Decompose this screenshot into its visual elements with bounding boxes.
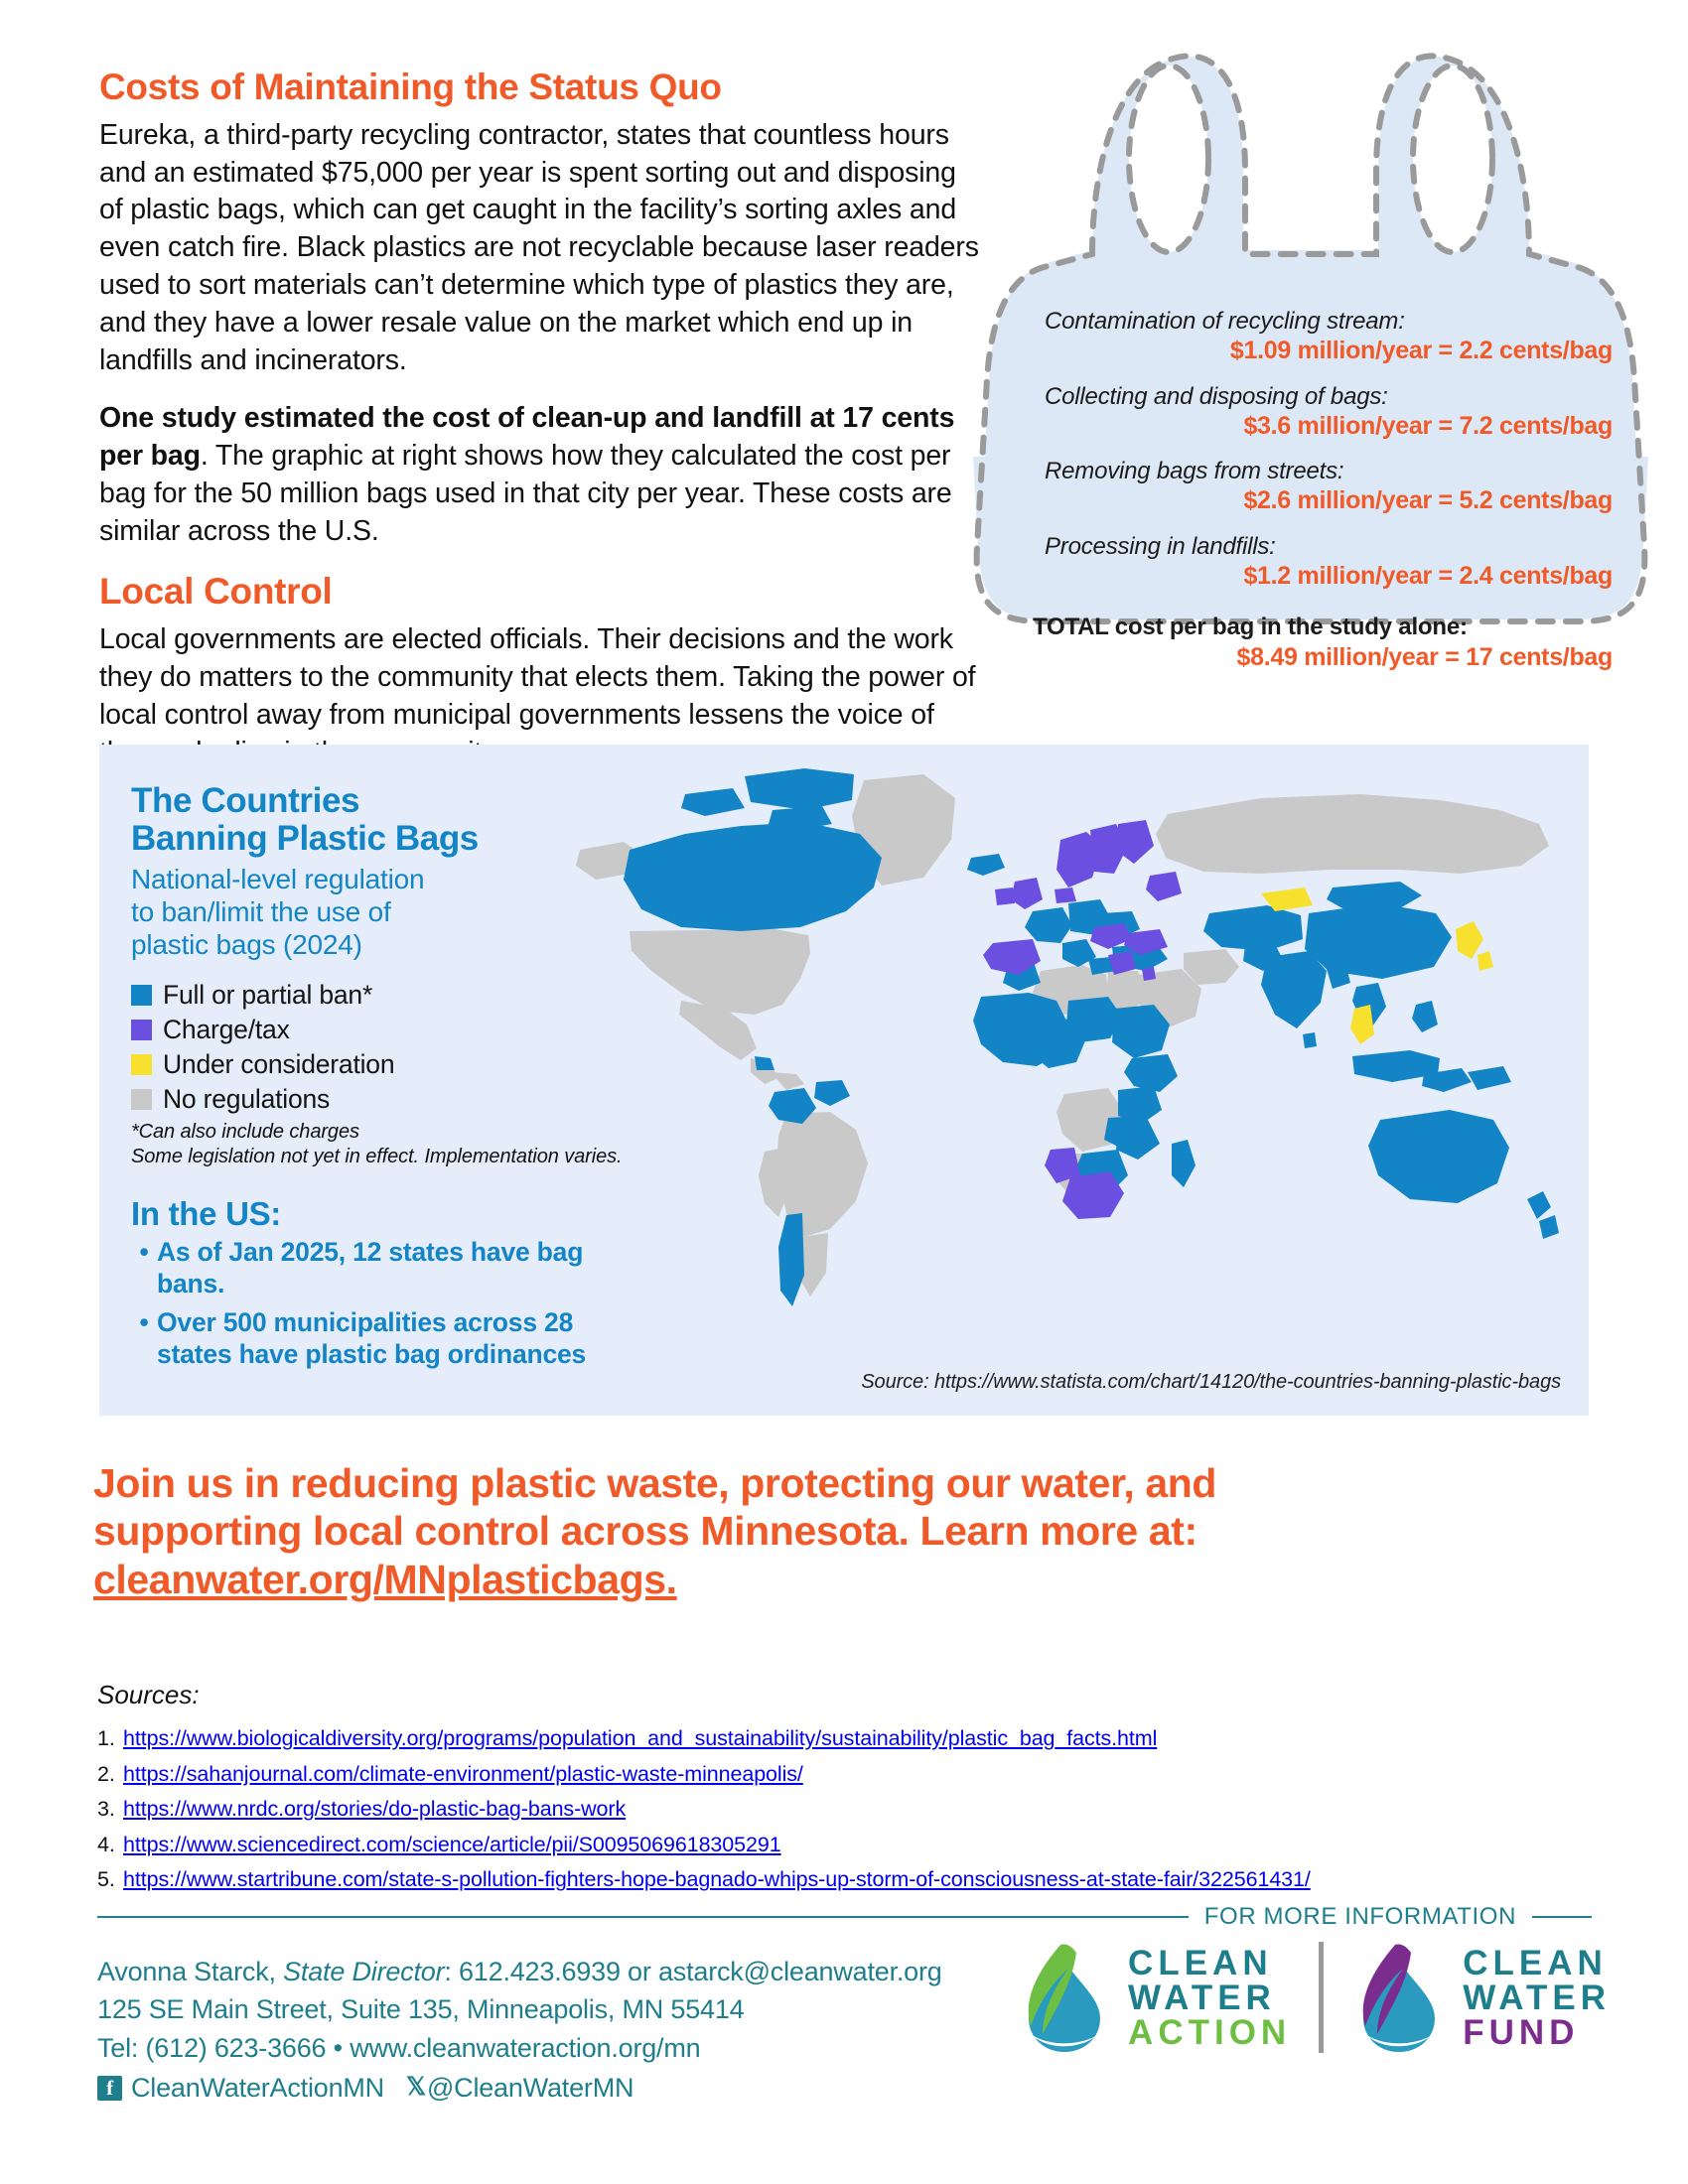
top-section: Costs of Maintaining the Status Quo Eure… [0,0,1688,745]
bullet-icon: • [131,1307,157,1371]
legend-label: Charge/tax [163,1016,290,1044]
call-to-action: Join us in reducing plastic waste, prote… [93,1459,1503,1603]
world-map [566,754,1579,1350]
footer: FOR MORE INFORMATION Avonna Starck, Stat… [0,1891,1688,2184]
source-link[interactable]: https://www.nrdc.org/stories/do-plastic-… [123,1795,626,1824]
source-list-item: 4. https://www.sciencedirect.com/science… [97,1831,1537,1859]
source-number: 1. [97,1724,123,1753]
infographic-page: Costs of Maintaining the Status Quo Eure… [0,0,1688,2184]
contact-name: Avonna Starck, [97,1957,276,1986]
water-drop-leaf-icon [1017,1939,1112,2056]
source-number: 5. [97,1865,123,1894]
source-list-item: 2. https://sahanjournal.com/climate-envi… [97,1760,1537,1789]
legend-swatch-icon [131,1089,152,1110]
cost-item: Processing in landfills: $1.2 million/ye… [1003,533,1613,593]
x-twitter-icon[interactable]: 𝕏 [406,2070,426,2106]
cost-value: $2.6 million/year = 5.2 cents/bag [1003,485,1613,516]
local-control-heading: Local Control [99,572,983,613]
clean-water-action-logo: CLEAN WATER ACTION [1017,1939,1291,2056]
cost-item: Removing bags from streets: $2.6 million… [1003,458,1613,517]
source-link[interactable]: https://sahanjournal.com/climate-environ… [123,1760,803,1789]
legend-swatch-icon [131,1020,152,1040]
cost-label: Collecting and disposing of bags: [1003,383,1613,411]
world-map-svg [566,754,1579,1350]
source-link[interactable]: https://www.biologicaldiversity.org/prog… [123,1724,1157,1753]
for-more-information-label: FOR MORE INFORMATION [1189,1903,1532,1931]
logo-divider [1319,1942,1324,2053]
cost-value: $1.09 million/year = 2.2 cents/bag [1003,336,1613,366]
x-handle[interactable]: @CleanWaterMN [427,2069,633,2107]
social-row: f CleanWaterActionMN 𝕏 @CleanWaterMN [97,2069,1041,2107]
logo-word-clean: CLEAN [1128,1946,1291,1980]
cost-total-label: TOTAL cost per bag in the study alone: [1003,614,1613,641]
cta-line-2: supporting local control across Minnesot… [93,1507,1503,1555]
legend-label: Full or partial ban* [163,981,372,1010]
bag-cost-list: Contamination of recycling stream: $1.09… [1003,308,1638,689]
cost-label: Removing bags from streets: [1003,458,1613,485]
source-number: 3. [97,1795,123,1824]
cost-total-value: $8.49 million/year = 17 cents/bag [1003,642,1613,673]
status-quo-paragraph-1: Eureka, a third-party recycling contract… [99,117,983,380]
plastic-bag-graphic: Contamination of recycling stream: $1.09… [943,20,1678,725]
source-list-item: 3. https://www.nrdc.org/stories/do-plast… [97,1795,1537,1824]
logo-wordmark: CLEAN WATER ACTION [1128,1946,1291,2050]
sources-heading: Sources: [97,1680,1537,1710]
cost-label: Processing in landfills: [1003,533,1613,561]
legend-swatch-icon [131,985,152,1006]
contact-tel-web: Tel: (612) 623-3666 • www.cleanwateracti… [97,2029,1041,2067]
map-panel: The Countries Banning Plastic Bags Natio… [99,745,1589,1416]
clean-water-fund-logo: CLEAN WATER FUND [1351,1939,1611,2056]
contact-phone-email: : 612.423.6939 or astarck@cleanwater.org [444,1957,941,1986]
facebook-handle[interactable]: CleanWaterActionMN [131,2069,384,2107]
source-number: 2. [97,1760,123,1789]
source-list-item: 5. https://www.startribune.com/state-s-p… [97,1865,1537,1894]
status-quo-heading: Costs of Maintaining the Status Quo [99,68,983,108]
cost-value: $3.6 million/year = 7.2 cents/bag [1003,411,1613,442]
cost-item: Contamination of recycling stream: $1.09… [1003,308,1613,367]
left-text-column: Costs of Maintaining the Status Quo Eure… [99,68,983,792]
logo-group: CLEAN WATER ACTION CLEAN WATER FUND [1017,1939,1611,2056]
source-link[interactable]: https://www.startribune.com/state-s-poll… [123,1865,1311,1894]
logo-wordmark: CLEAN WATER FUND [1463,1946,1611,2050]
map-source-citation: Source: https://www.statista.com/chart/1… [861,1371,1561,1394]
divider-line-left [97,1916,1189,1918]
logo-word-water: WATER [1128,1980,1291,2015]
cost-value: $1.2 million/year = 2.4 cents/bag [1003,561,1613,592]
study-cost-rest: . The graphic at right shows how they ca… [99,440,952,547]
facebook-icon[interactable]: f [97,2076,122,2101]
contact-title: State Director [283,1957,444,1986]
cost-label: Contamination of recycling stream: [1003,308,1613,336]
source-list-item: 1. https://www.biologicaldiversity.org/p… [97,1724,1537,1753]
divider-line-right [1532,1916,1592,1918]
source-number: 4. [97,1831,123,1859]
logo-word-action: ACTION [1128,2015,1291,2050]
status-quo-paragraph-2: One study estimated the cost of clean-up… [99,400,983,551]
water-drop-flame-icon [1351,1939,1447,2056]
contact-address: 125 SE Main Street, Suite 135, Minneapol… [97,1990,1041,2028]
for-more-information-divider: FOR MORE INFORMATION [97,1903,1592,1931]
legend-swatch-icon [131,1054,152,1075]
bullet-icon: • [131,1237,157,1300]
cta-link[interactable]: cleanwater.org/MNplasticbags. [93,1556,677,1603]
legend-label: No regulations [163,1085,330,1114]
source-link[interactable]: https://www.sciencedirect.com/science/ar… [123,1831,781,1859]
logo-word-water: WATER [1463,1980,1611,2015]
cta-line-1: Join us in reducing plastic waste, prote… [93,1459,1503,1507]
sources-section: Sources: 1. https://www.biologicaldivers… [97,1680,1537,1901]
logo-word-fund: FUND [1463,2015,1611,2050]
contact-line-1: Avonna Starck, State Director: 612.423.6… [97,1953,1041,1990]
cost-item: Collecting and disposing of bags: $3.6 m… [1003,383,1613,443]
logo-word-clean: CLEAN [1463,1946,1611,1980]
cost-total-item: TOTAL cost per bag in the study alone: $… [1003,614,1613,673]
contact-block: Avonna Starck, State Director: 612.423.6… [97,1953,1041,2107]
legend-label: Under consideration [163,1050,394,1079]
